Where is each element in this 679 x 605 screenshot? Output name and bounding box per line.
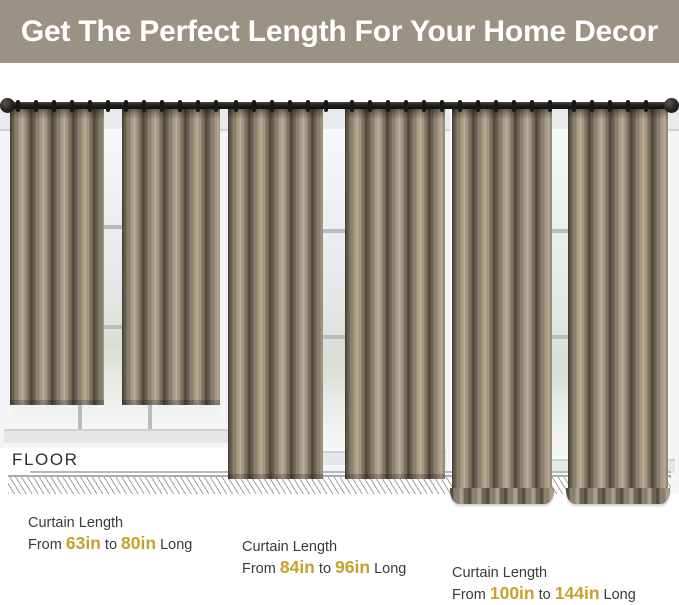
curtain-ring — [160, 100, 164, 112]
curtain-ring — [288, 100, 292, 112]
curtain-ring — [88, 100, 92, 112]
caption-line-2: From 84in to 96in Long — [242, 557, 406, 579]
infographic-page: Get The Perfect Length For Your Home Dec… — [0, 0, 679, 605]
rod-finial-left-icon — [0, 98, 15, 113]
curtain-ring — [386, 100, 390, 112]
caption-line-1: Curtain Length — [452, 563, 636, 583]
curtain-ring — [252, 100, 256, 112]
caption-prefix: From — [28, 537, 66, 553]
caption-middle: to — [315, 561, 335, 577]
caption-suffix: Long — [600, 587, 636, 603]
caption-from-value: 100in — [490, 583, 535, 603]
caption-medium-length: Curtain Length From 84in to 96in Long — [242, 537, 406, 579]
curtain-ring — [142, 100, 146, 112]
caption-to-value: 80in — [121, 533, 156, 553]
curtain-ring — [270, 100, 274, 112]
curtain-ring — [548, 100, 552, 112]
window-sill-left — [4, 429, 228, 443]
caption-line-2: From 63in to 80in Long — [28, 533, 192, 555]
floor-label: FLOOR — [12, 450, 79, 470]
header-banner: Get The Perfect Length For Your Home Dec… — [0, 0, 679, 63]
curtain-ring — [34, 100, 38, 112]
curtain-ring — [16, 100, 20, 112]
curtain-panel-medium-right — [345, 107, 445, 479]
curtain-panel-long-right — [568, 107, 668, 497]
curtain-ring — [440, 100, 444, 112]
caption-from-value: 63in — [66, 533, 101, 553]
curtain-ring — [422, 100, 426, 112]
curtain-ring — [590, 100, 594, 112]
curtain-ring — [644, 100, 648, 112]
caption-from-value: 84in — [280, 557, 315, 577]
curtain-ring — [626, 100, 630, 112]
curtain-ring — [572, 100, 576, 112]
curtain-ring — [124, 100, 128, 112]
curtain-scene: FLOOR — [0, 63, 679, 605]
curtain-puddle-hem — [566, 488, 670, 504]
curtain-ring — [106, 100, 110, 112]
curtain-ring — [70, 100, 74, 112]
caption-prefix: From — [452, 587, 490, 603]
curtain-rod — [0, 99, 679, 117]
curtain-ring — [196, 100, 200, 112]
caption-to-value: 96in — [335, 557, 370, 577]
rod-finial-right-icon — [664, 98, 679, 113]
curtain-panel-short-left — [10, 107, 104, 405]
curtain-ring — [458, 100, 462, 112]
curtain-panel-long-left — [452, 107, 552, 497]
caption-long-length: Curtain Length From 100in to 144in Long — [452, 563, 636, 605]
caption-line-1: Curtain Length — [28, 513, 192, 533]
curtain-ring — [404, 100, 408, 112]
page-title: Get The Perfect Length For Your Home Dec… — [21, 15, 658, 49]
caption-middle: to — [101, 537, 121, 553]
curtain-ring — [512, 100, 516, 112]
curtain-ring — [368, 100, 372, 112]
curtain-ring — [178, 100, 182, 112]
curtain-ring — [476, 100, 480, 112]
curtain-puddle-hem — [450, 488, 554, 504]
curtain-ring — [306, 100, 310, 112]
caption-prefix: From — [242, 561, 280, 577]
curtain-ring — [608, 100, 612, 112]
caption-to-value: 144in — [555, 583, 600, 603]
caption-line-1: Curtain Length — [242, 537, 406, 557]
curtain-ring — [350, 100, 354, 112]
curtain-ring — [52, 100, 56, 112]
curtain-ring — [324, 100, 328, 112]
caption-suffix: Long — [370, 561, 406, 577]
caption-middle: to — [535, 587, 555, 603]
caption-suffix: Long — [156, 537, 192, 553]
curtain-panel-short-right — [122, 107, 220, 405]
curtain-ring — [214, 100, 218, 112]
curtain-ring — [494, 100, 498, 112]
caption-short-length: Curtain Length From 63in to 80in Long — [28, 513, 192, 555]
caption-line-2: From 100in to 144in Long — [452, 583, 636, 605]
curtain-panel-medium-left — [228, 107, 323, 479]
curtain-ring — [234, 100, 238, 112]
curtain-ring — [530, 100, 534, 112]
